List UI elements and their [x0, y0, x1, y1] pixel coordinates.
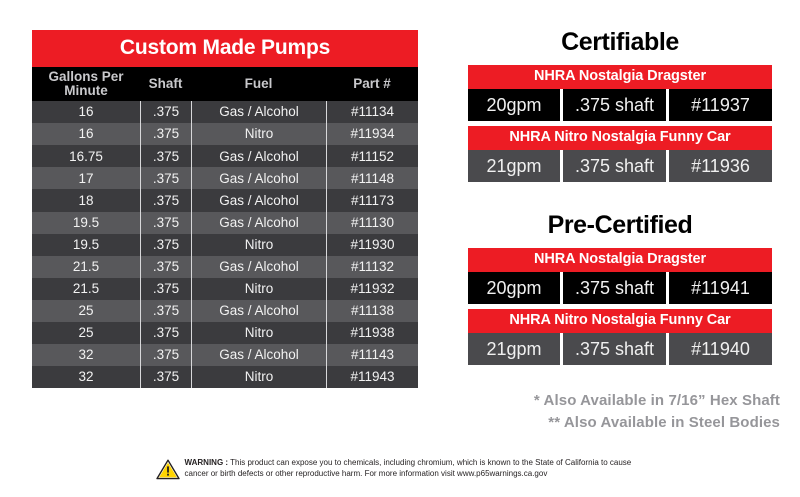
cell-fuel: Gas / Alcohol [191, 101, 326, 123]
cell-part: #11148 [326, 167, 418, 189]
column-header-part-number: Part # [326, 67, 418, 101]
cell-fuel: Nitro [191, 234, 326, 256]
cell-part: #11940 [666, 333, 772, 365]
cell-part: #11138 [326, 300, 418, 322]
cell-gpm: 17 [32, 167, 140, 189]
cell-fuel: Nitro [191, 322, 326, 344]
cell-gpm: 32 [32, 344, 140, 366]
cell-gpm: 21.5 [32, 278, 140, 300]
table-row: 16.375Nitro#11934 [32, 123, 418, 145]
cell-gpm: 25 [32, 322, 140, 344]
cell-fuel: Nitro [191, 123, 326, 145]
cell-gpm: 21.5 [32, 256, 140, 278]
footnotes: * Also Available in 7/16” Hex Shaft ** A… [460, 390, 780, 434]
cell-gpm: 16.75 [32, 145, 140, 167]
cell-gpm: 21gpm [468, 333, 560, 365]
cell-part: #11152 [326, 145, 418, 167]
cell-shaft: .375 [140, 234, 191, 256]
cell-part: #11934 [326, 123, 418, 145]
cert-row: 20gpm.375 shaft#11941 [468, 272, 772, 304]
cell-gpm: 19.5 [32, 212, 140, 234]
prop65-warning: WARNING : This product can expose you to… [0, 458, 800, 485]
cell-gpm: 18 [32, 189, 140, 211]
cell-gpm: 20gpm [468, 89, 560, 121]
cell-shaft: .375 [140, 212, 191, 234]
warning-triangle-icon [156, 459, 180, 485]
cell-shaft: .375 shaft [560, 333, 666, 365]
custom-made-pumps-title: Custom Made Pumps [32, 30, 418, 67]
certifiable-section: Certifiable NHRA Nostalgia Dragster20gpm… [468, 30, 772, 182]
table-row: 21.5.375Gas / Alcohol#11132 [32, 256, 418, 278]
table-body: 16.375Gas / Alcohol#1113416.375Nitro#119… [32, 101, 418, 388]
cell-part: #11173 [326, 189, 418, 211]
table-row: 19.5.375Nitro#11930 [32, 234, 418, 256]
cell-part: #11130 [326, 212, 418, 234]
table-row: 25.375Gas / Alcohol#11138 [32, 300, 418, 322]
cell-shaft: .375 [140, 344, 191, 366]
cert-group-band: NHRA Nostalgia Dragster [468, 65, 772, 89]
cell-shaft: .375 [140, 101, 191, 123]
cell-part: #11938 [326, 322, 418, 344]
cell-part: #11936 [666, 150, 772, 182]
warning-body: This product can expose you to chemicals… [185, 458, 632, 478]
cell-gpm: 25 [32, 300, 140, 322]
cell-fuel: Gas / Alcohol [191, 256, 326, 278]
cell-fuel: Gas / Alcohol [191, 145, 326, 167]
table-row: 16.75.375Gas / Alcohol#11152 [32, 145, 418, 167]
column-header-shaft: Shaft [140, 67, 191, 101]
cell-shaft: .375 [140, 300, 191, 322]
cert-row: 20gpm.375 shaft#11937 [468, 89, 772, 121]
cell-shaft: .375 [140, 278, 191, 300]
cell-part: #11943 [326, 366, 418, 388]
table-header-row: Gallons Per Minute Shaft Fuel Part # [32, 67, 418, 101]
cert-group-band: NHRA Nostalgia Dragster [468, 248, 772, 272]
cell-fuel: Gas / Alcohol [191, 189, 326, 211]
table-row: 19.5.375Gas / Alcohol#11130 [32, 212, 418, 234]
column-header-fuel: Fuel [191, 67, 326, 101]
column-header-gallons-per-minute: Gallons Per Minute [32, 67, 140, 101]
cell-gpm: 16 [32, 101, 140, 123]
cell-part: #11937 [666, 89, 772, 121]
certifiable-table: NHRA Nostalgia Dragster20gpm.375 shaft#1… [468, 65, 772, 182]
custom-made-pumps-table: Custom Made Pumps Gallons Per Minute Sha… [32, 30, 418, 388]
table-row: 16.375Gas / Alcohol#11134 [32, 101, 418, 123]
cert-group-band: NHRA Nitro Nostalgia Funny Car [468, 309, 772, 333]
cell-gpm: 21gpm [468, 150, 560, 182]
cell-shaft: .375 shaft [560, 89, 666, 121]
cell-gpm: 16 [32, 123, 140, 145]
cell-part: #11143 [326, 344, 418, 366]
table-row: 25.375Nitro#11938 [32, 322, 418, 344]
cert-row: 21gpm.375 shaft#11940 [468, 333, 772, 365]
cell-shaft: .375 shaft [560, 272, 666, 304]
cell-part: #11134 [326, 101, 418, 123]
cell-shaft: .375 [140, 189, 191, 211]
cell-fuel: Gas / Alcohol [191, 212, 326, 234]
cell-part: #11932 [326, 278, 418, 300]
cell-gpm: 20gpm [468, 272, 560, 304]
certifiable-title: Certifiable [468, 30, 772, 55]
cell-fuel: Nitro [191, 278, 326, 300]
table-row: 32.375Nitro#11943 [32, 366, 418, 388]
table-row: 18.375Gas / Alcohol#11173 [32, 189, 418, 211]
cell-shaft: .375 [140, 366, 191, 388]
cell-part: #11941 [666, 272, 772, 304]
cell-shaft: .375 shaft [560, 150, 666, 182]
cert-group-band: NHRA Nitro Nostalgia Funny Car [468, 126, 772, 150]
precertified-table: NHRA Nostalgia Dragster20gpm.375 shaft#1… [468, 248, 772, 365]
cell-gpm: 19.5 [32, 234, 140, 256]
cell-shaft: .375 [140, 167, 191, 189]
cell-gpm: 32 [32, 366, 140, 388]
footnote-hex-shaft: * Also Available in 7/16” Hex Shaft [460, 390, 780, 412]
cell-fuel: Gas / Alcohol [191, 167, 326, 189]
table-row: 32.375Gas / Alcohol#11143 [32, 344, 418, 366]
cell-shaft: .375 [140, 322, 191, 344]
cell-shaft: .375 [140, 123, 191, 145]
precertified-section: Pre-Certified NHRA Nostalgia Dragster20g… [468, 213, 772, 365]
cell-part: #11930 [326, 234, 418, 256]
cell-fuel: Gas / Alcohol [191, 344, 326, 366]
warning-text: WARNING : This product can expose you to… [185, 458, 645, 480]
table-row: 21.5.375Nitro#11932 [32, 278, 418, 300]
footnote-steel-bodies: ** Also Available in Steel Bodies [460, 412, 780, 434]
cell-part: #11132 [326, 256, 418, 278]
table-row: 17.375Gas / Alcohol#11148 [32, 167, 418, 189]
cert-row: 21gpm.375 shaft#11936 [468, 150, 772, 182]
warning-label: WARNING : [185, 458, 229, 467]
cell-shaft: .375 [140, 145, 191, 167]
precertified-title: Pre-Certified [468, 213, 772, 238]
cell-shaft: .375 [140, 256, 191, 278]
cell-fuel: Gas / Alcohol [191, 300, 326, 322]
cell-fuel: Nitro [191, 366, 326, 388]
